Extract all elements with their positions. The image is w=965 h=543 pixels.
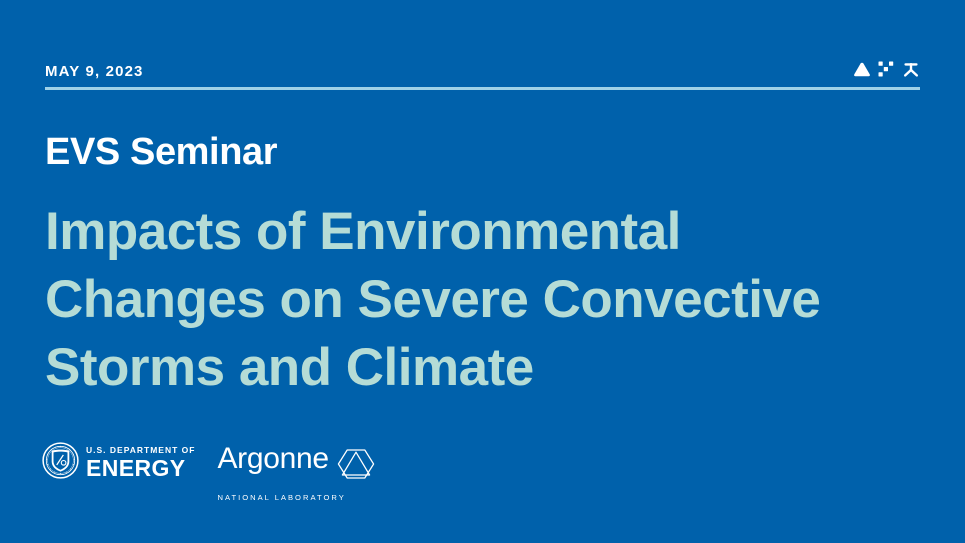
argonne-subtitle-text: NATIONAL LABORATORY: [217, 493, 347, 502]
page-title-line-2: Changes on Severe Convective: [45, 266, 925, 334]
page-title-line-1: Impacts of Environmental: [45, 198, 925, 266]
slide-date: MAY 9, 2023: [45, 62, 144, 82]
doe-energy-text: ENERGY: [86, 456, 195, 481]
doe-seal-icon: [42, 442, 79, 484]
page-title: Impacts of Environmental Changes on Seve…: [45, 198, 925, 402]
seminar-label: EVS Seminar: [45, 129, 277, 175]
title-slide: MAY 9, 2023: [0, 0, 965, 543]
argonne-logo: Argonne NATIONAL LABORATORY: [217, 441, 376, 487]
logo-lockup-group: U.S. DEPARTMENT OF ENERGY Argonne NATION…: [42, 441, 377, 489]
header-divider: [45, 87, 920, 90]
tripod-mark-icon: [902, 62, 920, 83]
doe-wordmark: U.S. DEPARTMENT OF ENERGY: [86, 445, 195, 481]
header-mark-group: [853, 61, 920, 83]
slide-header: MAY 9, 2023: [45, 62, 920, 92]
argonne-wordmark: Argonne: [217, 443, 376, 487]
doe-department-text: U.S. DEPARTMENT OF: [86, 445, 195, 455]
argonne-name-text: Argonne: [217, 443, 328, 475]
argonne-hexagon-icon: [335, 446, 377, 487]
doe-logo: U.S. DEPARTMENT OF ENERGY: [42, 441, 195, 485]
dots-mark-icon: [878, 61, 895, 83]
triangle-mark-icon: [853, 62, 871, 82]
page-title-line-3: Storms and Climate: [45, 334, 925, 402]
